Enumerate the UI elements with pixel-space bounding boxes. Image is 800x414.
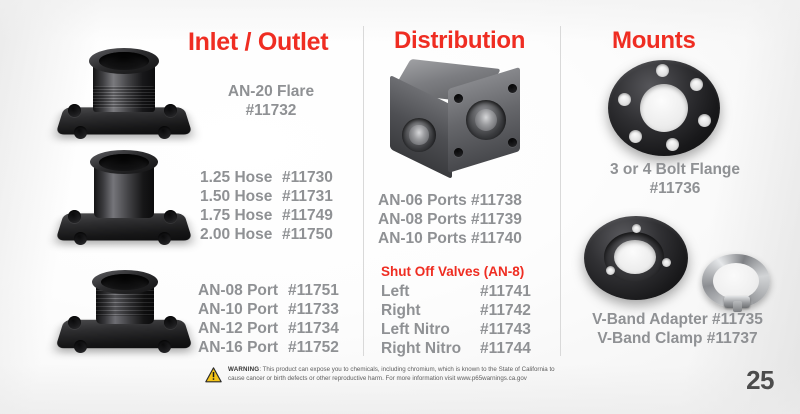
column-heading-distribution: Distribution xyxy=(394,27,525,55)
product-image-an-20-flare xyxy=(58,42,193,147)
spec-label: Left xyxy=(381,282,480,301)
product-image-distribution-block xyxy=(388,62,538,182)
spec-part: #11749 xyxy=(282,206,333,225)
spec-line: AN-20 Flare xyxy=(196,82,346,101)
spec-label: AN-08 Port xyxy=(198,281,288,300)
spec-part: #11742 xyxy=(480,301,531,320)
spec-row: AN-10 Port #11733 xyxy=(198,300,339,319)
spec-an-20-flare: AN-20 Flare #11732 xyxy=(196,82,346,120)
spec-row: 1.25 Hose #11730 xyxy=(200,168,333,187)
product-image-bolt-flange xyxy=(604,58,724,158)
spec-row: 1.75 Hose #11749 xyxy=(200,206,333,225)
spec-label: 1.50 Hose xyxy=(200,187,282,206)
spec-line: V-Band Adapter #11735 xyxy=(570,310,785,329)
spec-line: AN-08 Ports #11739 xyxy=(378,210,522,229)
spec-bolt-flange: 3 or 4 Bolt Flange #11736 xyxy=(580,160,770,198)
spec-part: #11752 xyxy=(288,338,339,357)
spec-part: #11751 xyxy=(288,281,339,300)
product-image-v-band-clamp xyxy=(700,252,778,314)
warning-line-2: cause cancer or birth defects or other r… xyxy=(228,375,555,384)
spec-distribution-ports: AN-06 Ports #11738 AN-08 Ports #11739 AN… xyxy=(378,191,522,248)
spec-line: 3 or 4 Bolt Flange xyxy=(580,160,770,179)
spec-label: Right Nitro xyxy=(381,339,480,358)
spec-row: Right Nitro #11744 xyxy=(381,339,531,358)
spec-label: AN-16 Port xyxy=(198,338,288,357)
spec-line: #11732 xyxy=(196,101,346,120)
spec-row: AN-16 Port #11752 xyxy=(198,338,339,357)
spec-part: #11750 xyxy=(282,225,333,244)
spec-row: 1.50 Hose #11731 xyxy=(200,187,333,206)
column-divider-1 xyxy=(363,26,364,356)
product-image-hose-barb xyxy=(58,146,193,251)
spec-row: AN-12 Port #11734 xyxy=(198,319,339,338)
spec-part: #11743 xyxy=(480,320,531,339)
spec-hose-list: 1.25 Hose #11730 1.50 Hose #11731 1.75 H… xyxy=(200,168,333,244)
spec-row: Left Nitro #11743 xyxy=(381,320,531,339)
prop65-warning: WARNING: This product can expose you to … xyxy=(205,366,655,383)
column-heading-inlet-outlet: Inlet / Outlet xyxy=(188,28,328,57)
product-image-an-port xyxy=(58,262,193,362)
spec-label: Left Nitro xyxy=(381,320,480,339)
spec-row: Right #11742 xyxy=(381,301,531,320)
spec-line: V-Band Clamp #11737 xyxy=(570,329,785,348)
spec-label: 1.75 Hose xyxy=(200,206,282,225)
column-divider-2 xyxy=(560,26,561,356)
spec-part: #11744 xyxy=(480,339,531,358)
spec-label: AN-12 Port xyxy=(198,319,288,338)
spec-row: 2.00 Hose #11750 xyxy=(200,225,333,244)
warning-line-1: : This product can expose you to chemica… xyxy=(259,366,554,373)
spec-row: AN-08 Port #11751 xyxy=(198,281,339,300)
spec-label: AN-10 Port xyxy=(198,300,288,319)
warning-label: WARNING xyxy=(228,366,259,373)
spec-part: #11734 xyxy=(288,319,339,338)
spec-row: Left #11741 xyxy=(381,282,531,301)
spec-line: AN-06 Ports #11738 xyxy=(378,191,522,210)
spec-line: #11736 xyxy=(580,179,770,198)
column-heading-mounts: Mounts xyxy=(612,27,696,55)
spec-part: #11733 xyxy=(288,300,339,319)
spec-line: AN-10 Ports #11740 xyxy=(378,229,522,248)
spec-shut-off-valve-list: Left #11741 Right #11742 Left Nitro #117… xyxy=(381,282,531,358)
spec-part: #11731 xyxy=(282,187,333,206)
spec-v-band: V-Band Adapter #11735 V-Band Clamp #1173… xyxy=(570,310,785,348)
spec-port-list: AN-08 Port #11751 AN-10 Port #11733 AN-1… xyxy=(198,281,339,357)
spec-part: #11741 xyxy=(480,282,531,301)
page-number: 25 xyxy=(746,365,774,396)
spec-label: Right xyxy=(381,301,480,320)
subheading-shut-off-valves: Shut Off Valves (AN-8) xyxy=(381,264,524,279)
spec-part: #11730 xyxy=(282,168,333,187)
spec-label: 1.25 Hose xyxy=(200,168,282,187)
product-image-v-band-adapter xyxy=(582,214,692,306)
warning-triangle-icon xyxy=(205,367,222,383)
spec-label: 2.00 Hose xyxy=(200,225,282,244)
